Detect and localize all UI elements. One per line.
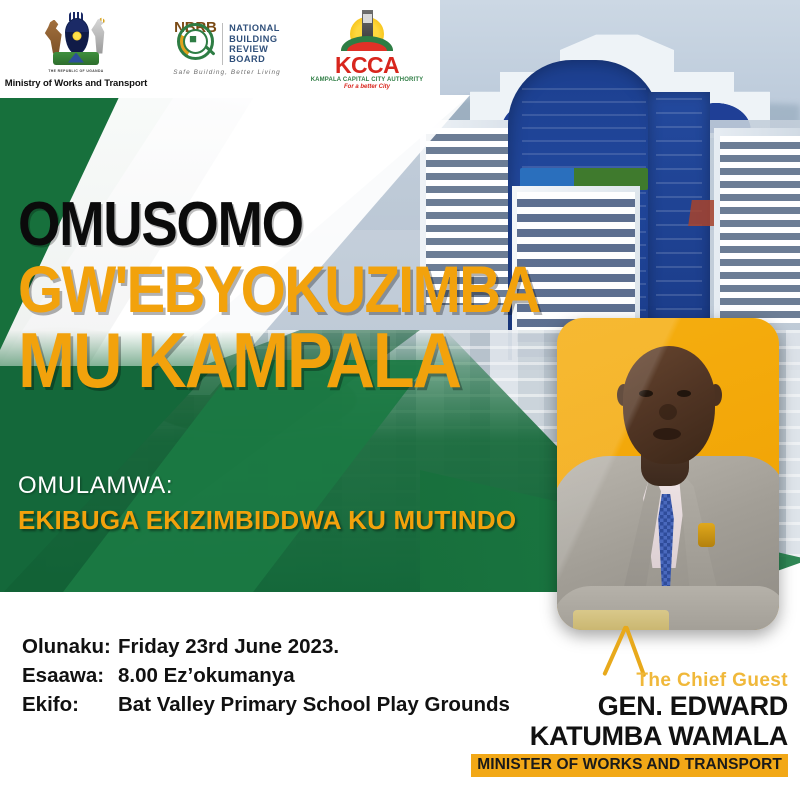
ministry-logo: THE REPUBLIC OF UGANDA Ministry of Works… <box>0 10 152 89</box>
headline-line-2: GW'EBYOKUZIMBA <box>18 256 511 322</box>
detail-row-date: Olunaku: Friday 23rd June 2023. <box>22 632 510 661</box>
theme-label: OMULAMWA: <box>18 472 618 500</box>
chief-guest-name-line1: GEN. EDWARD <box>440 692 788 721</box>
coat-motto: THE REPUBLIC OF UGANDA <box>48 69 103 73</box>
chief-guest-portrait <box>557 318 779 630</box>
kcca-logo: KCCA KAMPALA CAPITAL CITY AUTHORITY For … <box>302 9 432 90</box>
theme-block: OMULAMWA: EKIBUGA EKIZIMBIDDWA KU MUTIND… <box>18 472 618 536</box>
headline-line-3: MU KAMPALA <box>18 322 511 398</box>
theme-value: EKIBUGA EKIZIMBIDDWA KU MUTINDO <box>18 505 618 536</box>
nbrb-logo-row: ■ NBRB NATIONAL BUILDING REVIEW BOARD <box>174 22 280 66</box>
detail-key-time: Esaawa: <box>22 661 118 690</box>
event-details: Olunaku: Friday 23rd June 2023. Esaawa: … <box>22 632 510 719</box>
pointer-stroke-right <box>602 625 628 676</box>
detail-value-time: 8.00 Ez’okumanya <box>118 661 295 690</box>
detail-row-time: Esaawa: 8.00 Ez’okumanya <box>22 661 510 690</box>
nbrb-tagline: Safe Building, Better Living <box>173 69 281 76</box>
ministry-label: Ministry of Works and Transport <box>5 78 147 89</box>
detail-row-venue: Ekifo: Bat Valley Primary School Play Gr… <box>22 690 510 719</box>
shield-icon <box>65 18 89 54</box>
nbrb-word-line4: BOARD <box>229 54 280 64</box>
nbrb-mark: ■ NBRB <box>174 22 216 66</box>
headline: OMUSOMO GW'EBYOKUZIMBA MU KAMPALA <box>18 196 578 398</box>
detail-value-date: Friday 23rd June 2023. <box>118 632 339 661</box>
crested-crane-icon <box>87 18 111 54</box>
building-right-block <box>714 128 800 323</box>
nbrb-logo: ■ NBRB NATIONAL BUILDING REVIEW BOARD Sa… <box>152 22 302 76</box>
nbrb-wordmark: NATIONAL BUILDING REVIEW BOARD <box>222 23 280 65</box>
kob-antelope-icon <box>41 20 65 54</box>
kcca-mark <box>339 9 395 53</box>
event-poster: THE REPUBLIC OF UGANDA Ministry of Works… <box>0 0 800 800</box>
uganda-coat-of-arms-icon <box>39 12 113 68</box>
kcca-tagline: For a better City <box>344 84 390 90</box>
detail-key-date: Olunaku: <box>22 632 118 661</box>
chief-guest-name-line2: KATUMBA WAMALA <box>440 722 788 751</box>
logo-bar: THE REPUBLIC OF UGANDA Ministry of Works… <box>0 0 440 98</box>
headline-line-1: OMUSOMO <box>18 196 511 254</box>
nbrb-word-line3: REVIEW <box>229 44 280 54</box>
coat-base-icon <box>53 52 99 65</box>
chief-guest-pretitle: The Chief Guest <box>440 670 788 691</box>
nbrb-word-line1: NATIONAL <box>229 23 280 33</box>
hill-icon <box>341 36 393 51</box>
kcca-abbr: KCCA <box>335 54 399 77</box>
nbrb-word-line2: BUILDING <box>229 34 280 44</box>
building-figure-icon: ■ <box>187 30 199 48</box>
portrait-highlight <box>557 318 779 630</box>
kcca-subtitle: KAMPALA CAPITAL CITY AUTHORITY <box>311 77 424 83</box>
chief-guest-title: MINISTER OF WORKS AND TRANSPORT <box>471 754 788 777</box>
detail-key-venue: Ekifo: <box>22 690 118 719</box>
chief-guest-caption: The Chief Guest GEN. EDWARD KATUMBA WAMA… <box>440 670 788 777</box>
